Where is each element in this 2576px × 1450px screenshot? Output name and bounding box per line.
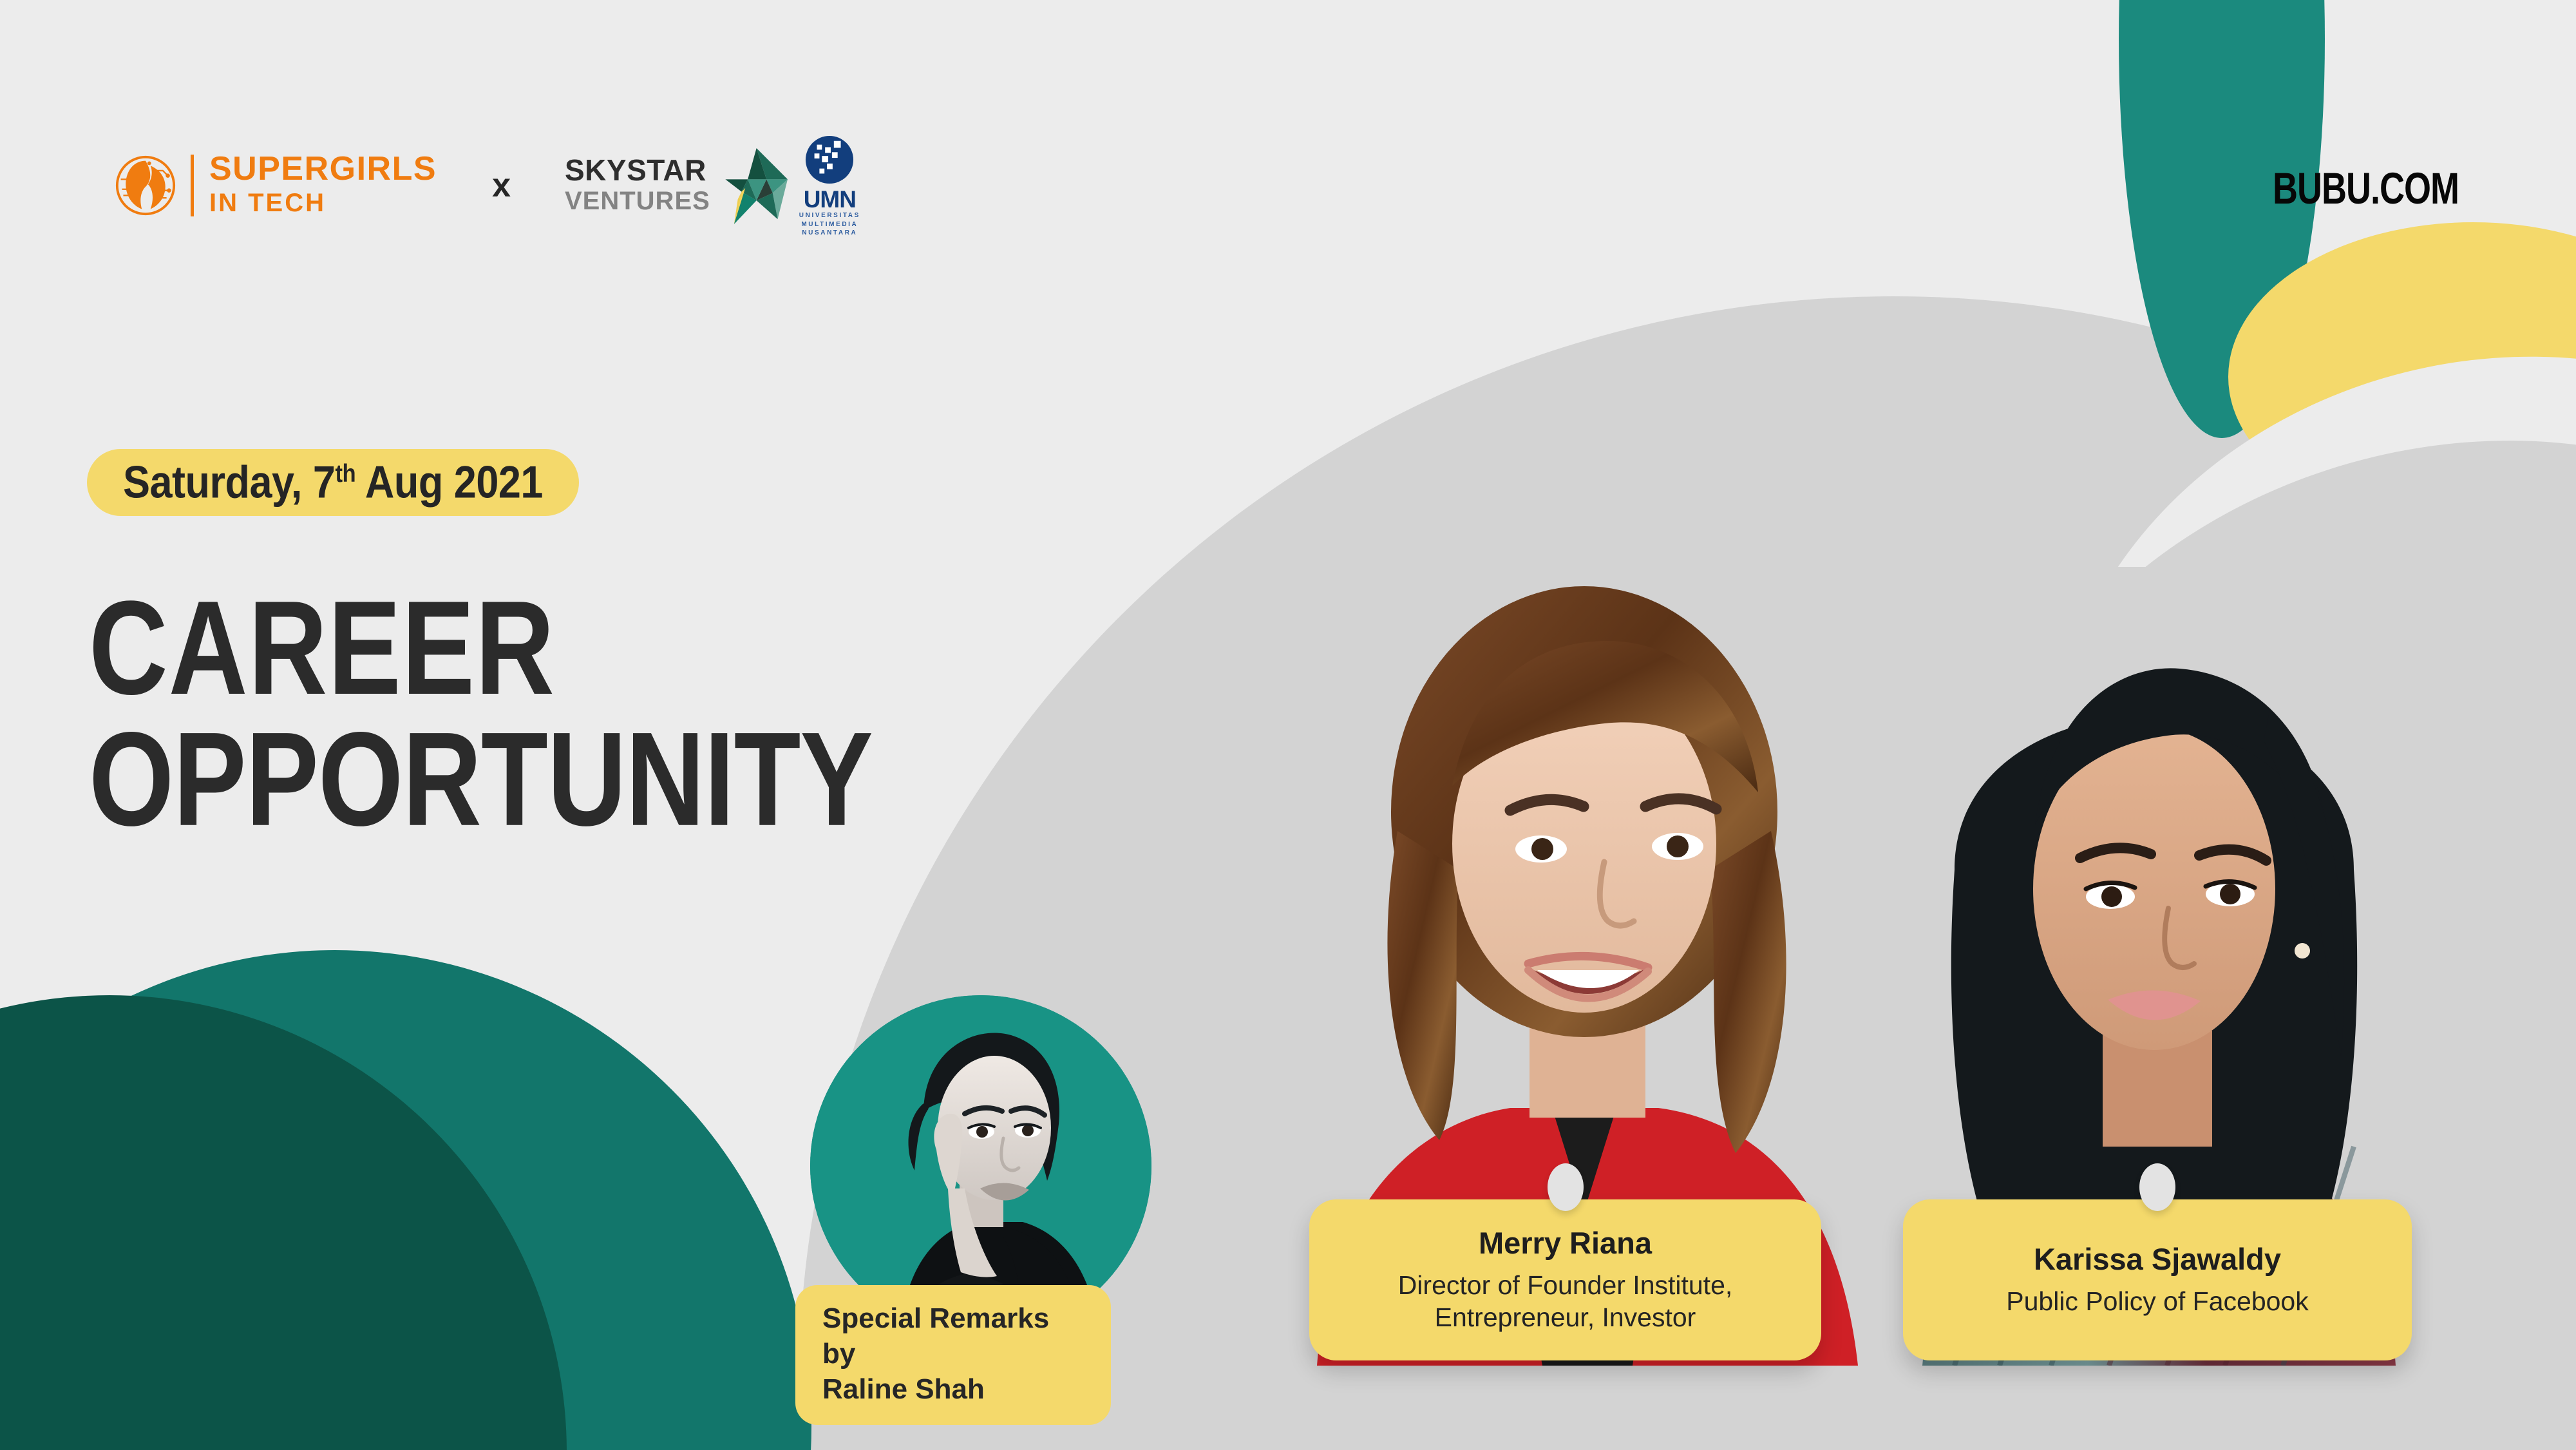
- bubu-brand-logo: BUBU.COM: [2273, 163, 2459, 214]
- card-pin-icon: [2139, 1163, 2175, 1211]
- speaker-name: Merry Riana: [1479, 1226, 1652, 1260]
- event-poster: SUPERGIRLS IN TECH x SKYSTAR VENTURES: [0, 0, 2576, 1450]
- special-remarks-badge: Special Remarks by Raline Shah: [795, 1285, 1111, 1425]
- speaker-card-karissa-sjawaldy: Karissa Sjawaldy Public Policy of Facebo…: [1903, 1199, 2412, 1360]
- date-prefix: Saturday, 7: [123, 457, 335, 508]
- skystar-line1: SKYSTAR: [565, 155, 710, 186]
- umn-abbrev: UMN: [804, 187, 856, 211]
- title-line-1: CAREER: [89, 583, 873, 714]
- speaker-role: Public Policy of Facebook: [2006, 1285, 2308, 1317]
- event-date-badge: Saturday, 7th Aug 2021: [87, 449, 579, 516]
- umn-logo: UMN UNIVERSITAS MULTIMEDIA NUSANTARA: [799, 133, 860, 238]
- title-line-2: OPPORTUNITY: [89, 714, 873, 844]
- event-date-text: Saturday, 7th Aug 2021: [123, 457, 543, 509]
- supergirls-woman-circuit-icon: [115, 155, 176, 216]
- logo-divider: [191, 155, 194, 216]
- speaker-card-merry-riana: Merry Riana Director of Founder Institut…: [1309, 1199, 1821, 1360]
- umn-subtitle: UNIVERSITAS MULTIMEDIA NUSANTARA: [799, 211, 860, 238]
- skystar-star-icon: [713, 146, 788, 225]
- skystar-line2: VENTURES: [565, 186, 710, 216]
- supergirls-line2: IN TECH: [209, 187, 437, 219]
- date-ordinal: th: [335, 460, 355, 488]
- umn-sub-line3: NUSANTARA: [799, 229, 860, 238]
- supergirls-line1: SUPERGIRLS: [209, 152, 437, 186]
- speaker-name: Karissa Sjawaldy: [2034, 1243, 2281, 1276]
- card-pin-icon: [1548, 1163, 1584, 1211]
- skystar-wordmark: SKYSTAR VENTURES: [565, 155, 710, 216]
- special-remarks-label: Special Remarks by Raline Shah: [822, 1301, 1084, 1407]
- speaker-role: Director of Founder Institute, Entrepren…: [1398, 1269, 1733, 1333]
- logo-separator-x: x: [492, 166, 511, 205]
- partner-logo-row: SUPERGIRLS IN TECH x SKYSTAR VENTURES: [115, 147, 860, 224]
- umn-sub-line1: UNIVERSITAS: [799, 211, 860, 220]
- date-suffix: Aug 2021: [355, 457, 543, 508]
- supergirls-wordmark: SUPERGIRLS IN TECH: [209, 152, 437, 218]
- page-title: CAREER OPPORTUNITY: [89, 583, 873, 844]
- umn-pixel-circle-icon: [804, 133, 855, 186]
- umn-sub-line2: MULTIMEDIA: [799, 220, 860, 229]
